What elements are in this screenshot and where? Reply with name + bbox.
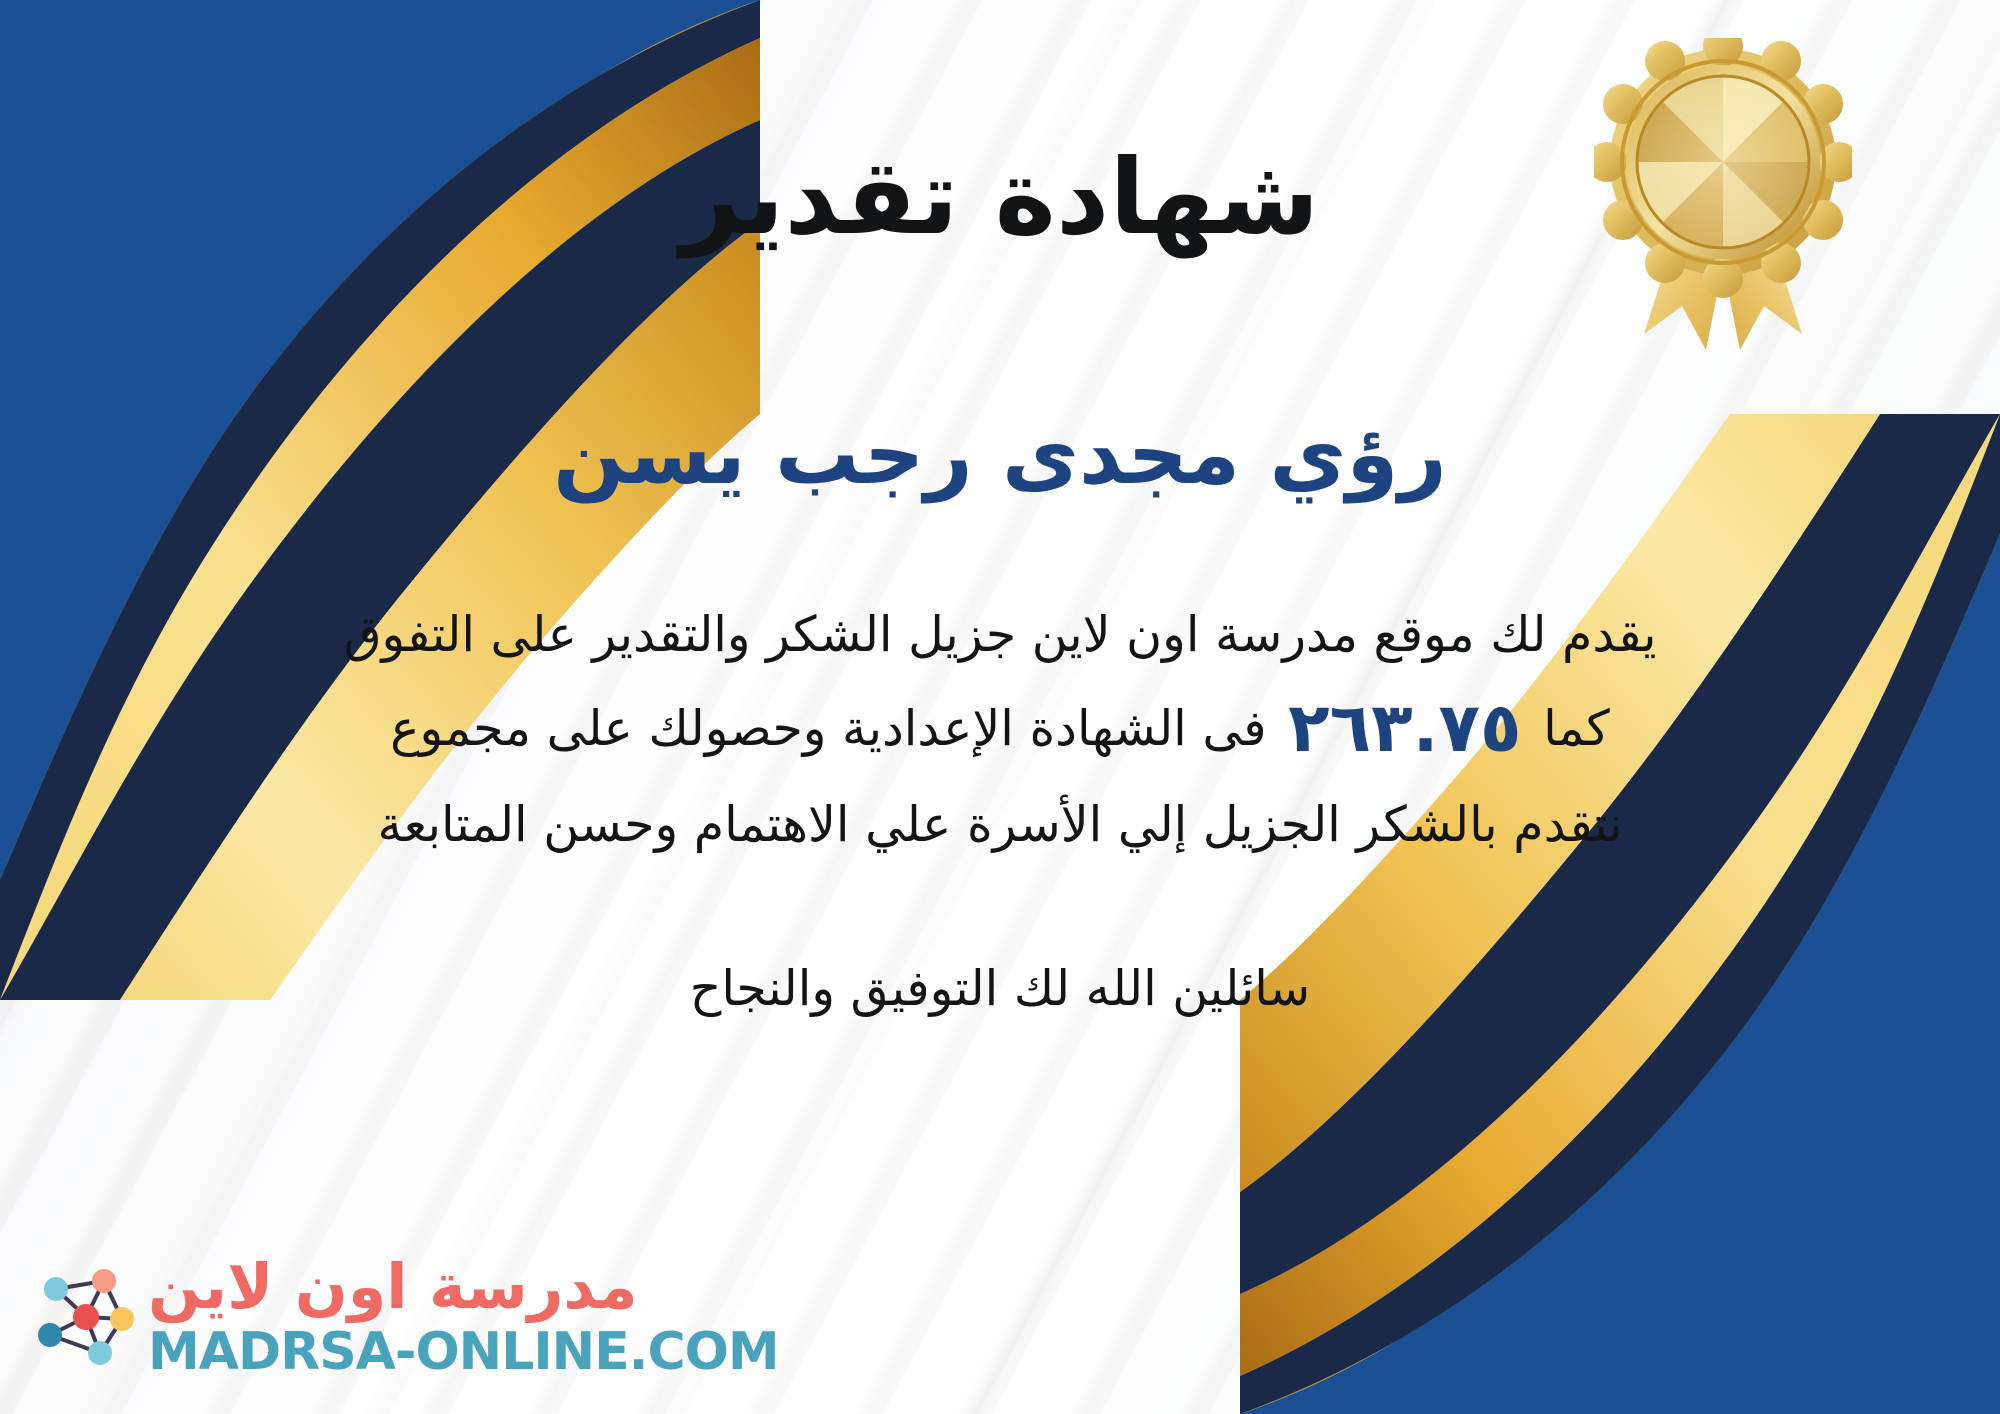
certificate-title: شهادة تقدير — [0, 140, 2000, 254]
body-line-2-prefix: فى الشهادة الإعدادية وحصولك على مجموع — [390, 700, 1266, 757]
brand-arabic-name: مدرسة اون لاين — [148, 1256, 638, 1318]
brand-logo[interactable]: مدرسة اون لاين MADRSA-ONLINE.COM — [26, 1256, 779, 1378]
body-line-3: نتقدم بالشكر الجزيل إلي الأسرة علي الاهت… — [220, 785, 1780, 864]
closing-wish: سائلين الله لك التوفيق والنجاح — [0, 960, 2000, 1017]
body-line-2-suffix: كما — [1543, 700, 1610, 757]
brand-website[interactable]: MADRSA-ONLINE.COM — [148, 1326, 779, 1378]
body-line-2: كما ٢٦٣.٧٥ فى الشهادة الإعدادية وحصولك ع… — [220, 674, 1780, 784]
certificate-body: يقدم لك موقع مدرسة اون لاين جزيل الشكر و… — [220, 595, 1780, 864]
network-nodes-icon — [26, 1261, 138, 1373]
recipient-name: رؤي مجدى رجب يسن — [0, 406, 2000, 503]
body-line-1: يقدم لك موقع مدرسة اون لاين جزيل الشكر و… — [220, 595, 1780, 674]
certificate-content: شهادة تقدير رؤي مجدى رجب يسن يقدم لك موق… — [0, 0, 2000, 1414]
brand-text: مدرسة اون لاين MADRSA-ONLINE.COM — [148, 1256, 779, 1378]
certificate: شهادة تقدير رؤي مجدى رجب يسن يقدم لك موق… — [0, 0, 2000, 1414]
total-score: ٢٦٣.٧٥ — [1282, 689, 1527, 768]
